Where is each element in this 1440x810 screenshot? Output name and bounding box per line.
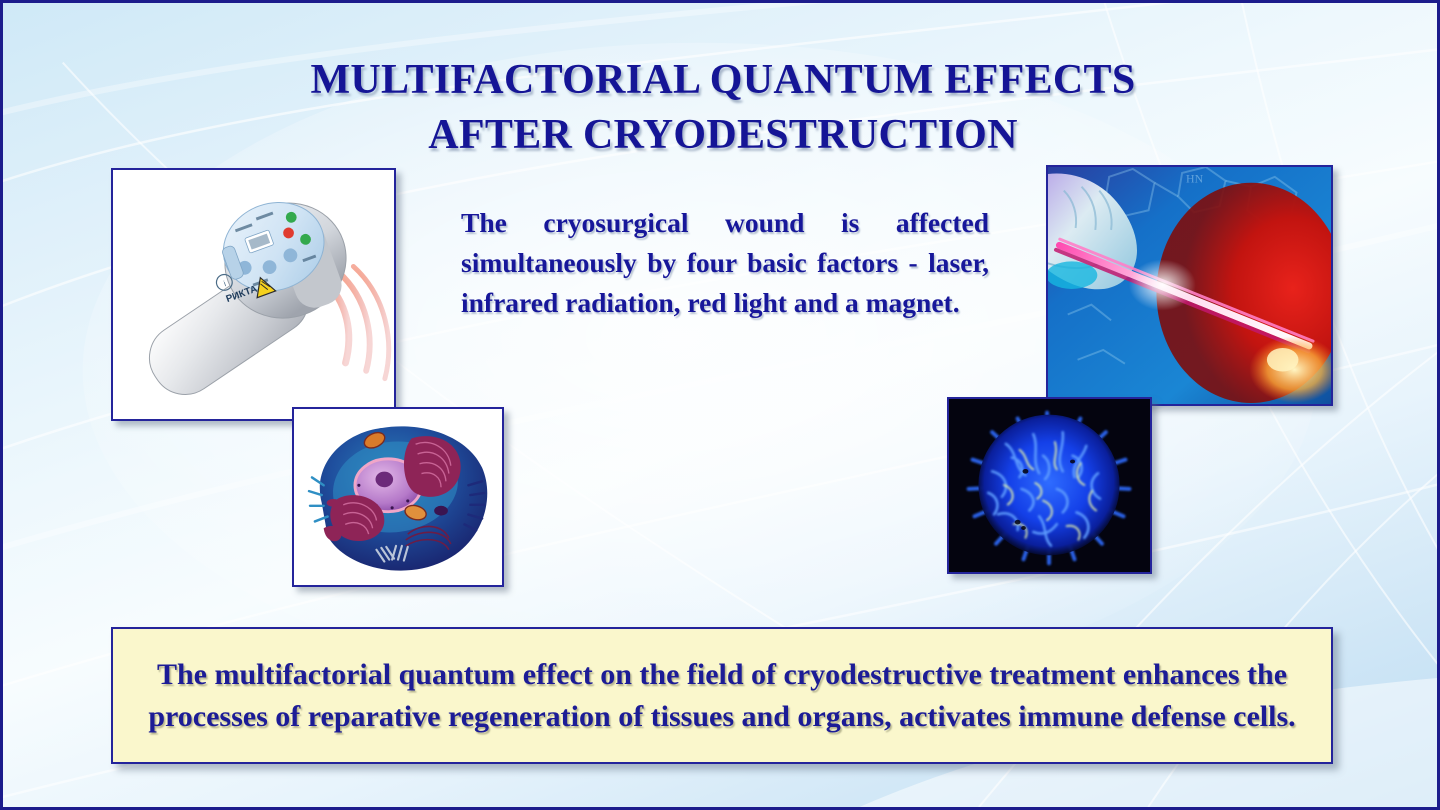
conclusion-callout-text: The multifactorial quantum effect on the… [137,654,1306,737]
laser-beam-on-tissue-illustration: HN [1046,165,1333,406]
laser-therapy-device-photo: i РИКТА [111,168,396,421]
animal-cell-diagram [292,407,504,587]
conclusion-callout-box: The multifactorial quantum effect on the… [111,627,1333,764]
immune-cell-micrograph [947,397,1152,574]
slide-title-line-2: AFTER CRYODESTRUCTION [123,108,1323,163]
body-paragraph: The cryosurgical wound is affected simul… [461,203,989,324]
slide-canvas: MULTIFACTORIAL QUANTUM EFFECTS AFTER CRY… [0,0,1440,810]
svg-text:HN: HN [1186,172,1204,186]
slide-title: MULTIFACTORIAL QUANTUM EFFECTS AFTER CRY… [123,53,1323,162]
slide-title-line-1: MULTIFACTORIAL QUANTUM EFFECTS [123,53,1323,108]
